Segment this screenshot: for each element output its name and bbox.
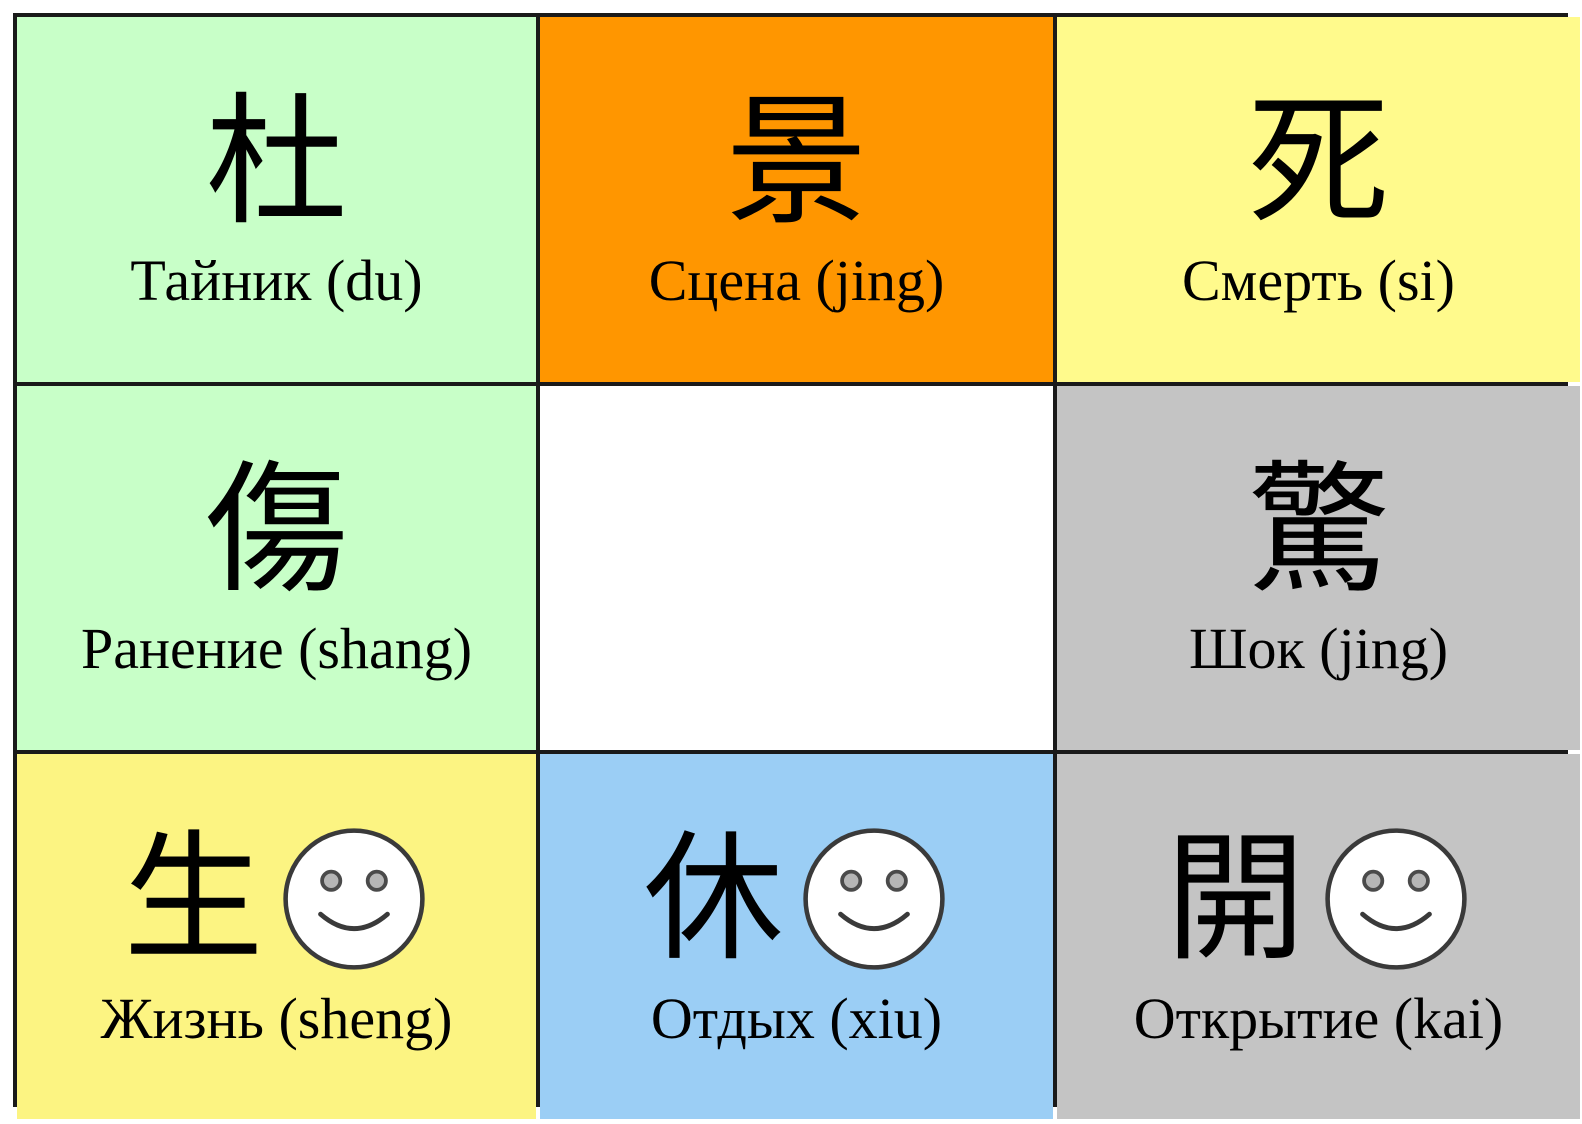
gate-glyph: 死 (1248, 88, 1390, 237)
gate-glyph-stack: 開 (1165, 826, 1305, 973)
gate-glyph-stack: 死 (1248, 88, 1390, 237)
gate-label: Ранение (shang) (81, 619, 472, 680)
gate-cell-content: 休 (540, 823, 1053, 975)
gate-glyph: 開 (1165, 826, 1305, 973)
gate-cell-top-left: 杜Тайник (du) (17, 17, 536, 382)
gate-cell-content: 開 (1057, 823, 1580, 975)
smiley-face-icon (278, 823, 430, 975)
gate-cell-middle-left: 傷Ранение (shang) (17, 386, 536, 750)
gate-glyph: 景 (726, 88, 868, 237)
gate-cell-content: 傷 (17, 456, 536, 605)
gate-glyph-stack: 休 (643, 826, 783, 973)
gate-label: Сцена (jing) (649, 251, 945, 312)
gate-cell-top-right: 死Смерть (si) (1057, 17, 1580, 382)
gate-glyph: 休 (643, 826, 783, 973)
smiley-face-icon (1320, 823, 1472, 975)
gate-glyph: 驚 (1248, 456, 1390, 605)
gate-label: Тайник (du) (130, 251, 422, 312)
gate-cell-content: 死 (1057, 88, 1580, 237)
gate-label: Отдых (xiu) (651, 989, 942, 1050)
gate-cell-middle-center (540, 386, 1053, 750)
gate-cell-bottom-left: 生 Жизнь (sheng) (17, 754, 536, 1119)
gate-cell-middle-right: 驚Шок (jing) (1057, 386, 1580, 750)
gate-glyph-stack: 景 (726, 88, 868, 237)
gate-cell-bottom-center: 休 Отдых (xiu) (540, 754, 1053, 1119)
gate-label: Смерть (si) (1182, 251, 1455, 312)
gate-cell-content: 驚 (1057, 456, 1580, 605)
gate-cell-content: 生 (17, 823, 536, 975)
gate-label: Жизнь (sheng) (101, 989, 453, 1050)
gate-glyph: 傷 (206, 456, 348, 605)
gate-glyph: 生 (123, 826, 263, 973)
gate-glyph-stack: 杜 (206, 88, 348, 237)
gate-cell-content: 杜 (17, 88, 536, 237)
gate-label: Открытие (kai) (1134, 989, 1504, 1050)
gate-glyph-stack: 生 (123, 826, 263, 973)
smiley-face-icon (798, 823, 950, 975)
gate-cell-bottom-right: 開 Открытие (kai) (1057, 754, 1580, 1119)
gate-glyph: 杜 (206, 88, 348, 237)
gate-glyph-stack: 傷 (206, 456, 348, 605)
gate-cell-content: 景 (540, 88, 1053, 237)
gate-label: Шок (jing) (1189, 619, 1448, 680)
gate-cell-top-center: 景Сцена (jing) (540, 17, 1053, 382)
gate-glyph-stack: 驚 (1248, 456, 1390, 605)
bagua-gates-grid: 杜Тайник (du)景Сцена (jing)死Смерть (si)傷Ра… (13, 13, 1568, 1107)
